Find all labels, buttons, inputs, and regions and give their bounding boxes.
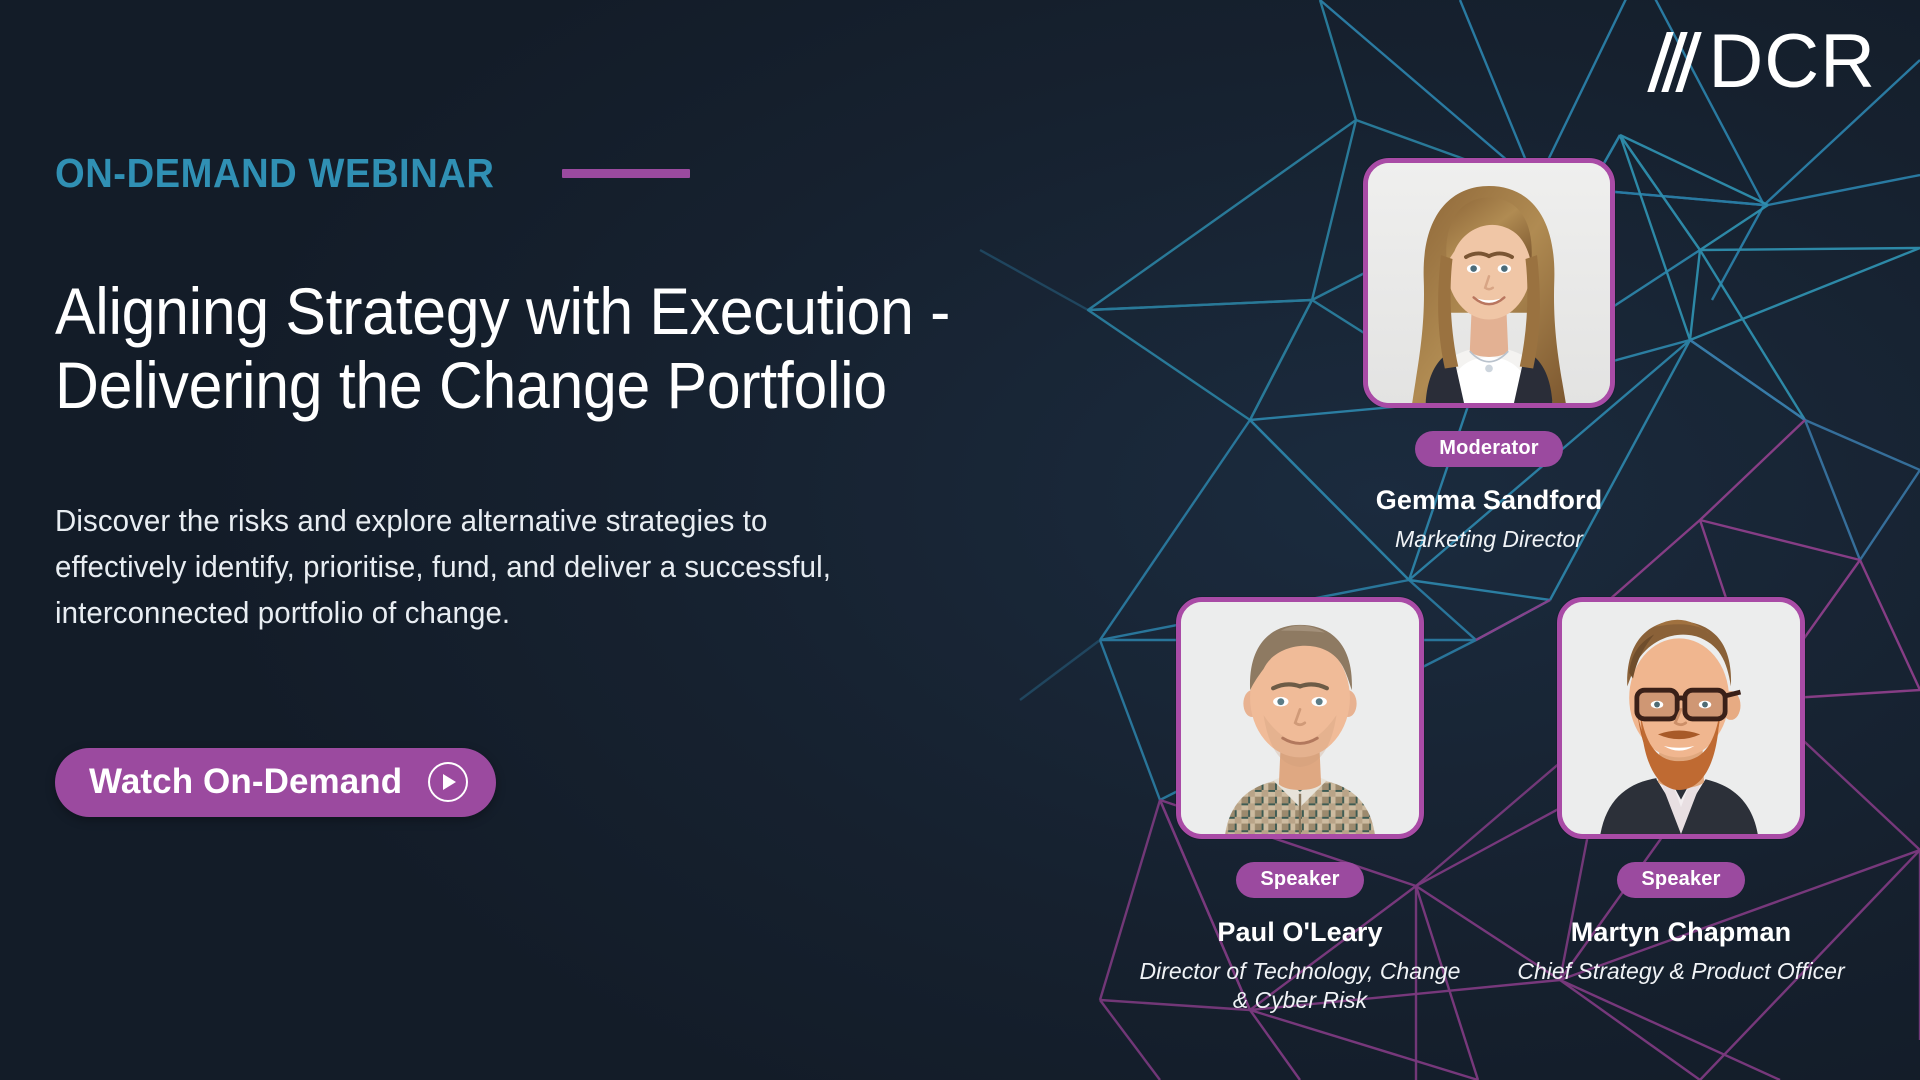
watch-on-demand-button[interactable]: Watch On-Demand bbox=[55, 748, 496, 817]
person-role-line: Chief Strategy & Product Officer bbox=[1516, 957, 1846, 986]
person-role: Marketing Director bbox=[1363, 525, 1615, 554]
hero-text-column: ON-DEMAND WEBINAR Aligning Strategy with… bbox=[55, 150, 1065, 817]
avatar-frame bbox=[1176, 597, 1424, 839]
eyebrow-label: ON-DEMAND WEBINAR bbox=[55, 150, 494, 197]
cta-label: Watch On-Demand bbox=[89, 762, 402, 802]
person-role-line: Marketing Director bbox=[1363, 525, 1615, 554]
person-role: Chief Strategy & Product Officer bbox=[1516, 957, 1846, 986]
eyebrow-accent-bar bbox=[562, 169, 690, 178]
person-role: Director of Technology, Change & Cyber R… bbox=[1135, 957, 1465, 1015]
play-circle-icon bbox=[428, 762, 468, 802]
avatar bbox=[1562, 602, 1800, 834]
person-name: Martyn Chapman bbox=[1557, 917, 1805, 948]
person-card-speaker-2: Speaker Martyn Chapman Chief Strategy & … bbox=[1557, 597, 1805, 986]
hero-description: Discover the risks and explore alternati… bbox=[55, 498, 1015, 637]
avatar-frame bbox=[1363, 158, 1615, 408]
avatar-frame bbox=[1557, 597, 1805, 839]
person-role-line: Director of Technology, Change bbox=[1135, 957, 1465, 986]
person-card-moderator: Moderator Gemma Sandford Marketing Direc… bbox=[1363, 158, 1615, 554]
dcr-logo[interactable]: DCR bbox=[1657, 28, 1876, 96]
description-line-3: interconnected portfolio of change. bbox=[55, 590, 1015, 636]
logo-wordmark: DCR bbox=[1708, 28, 1876, 96]
avatar bbox=[1368, 163, 1610, 403]
webinar-banner: DCR ON-DEMAND WEBINAR Aligning Strategy … bbox=[0, 0, 1920, 1080]
page-title: Aligning Strategy with Execution - Deliv… bbox=[55, 275, 984, 423]
description-line-1: Discover the risks and explore alternati… bbox=[55, 498, 1015, 544]
person-card-speaker-1: Speaker Paul O'Leary Director of Technol… bbox=[1176, 597, 1424, 1015]
person-name: Paul O'Leary bbox=[1176, 917, 1424, 948]
headline-line-2: Delivering the Change Portfolio bbox=[55, 349, 984, 423]
description-line-2: effectively identify, prioritise, fund, … bbox=[55, 544, 1015, 590]
person-role-line: & Cyber Risk bbox=[1135, 986, 1465, 1015]
person-name: Gemma Sandford bbox=[1363, 485, 1615, 516]
role-badge: Speaker bbox=[1236, 862, 1363, 898]
eyebrow-row: ON-DEMAND WEBINAR bbox=[55, 150, 1065, 197]
triple-slash-icon bbox=[1657, 32, 1692, 92]
headline-line-1: Aligning Strategy with Execution - bbox=[55, 275, 984, 349]
role-badge: Moderator bbox=[1415, 431, 1563, 467]
role-badge: Speaker bbox=[1617, 862, 1744, 898]
avatar bbox=[1181, 602, 1419, 834]
